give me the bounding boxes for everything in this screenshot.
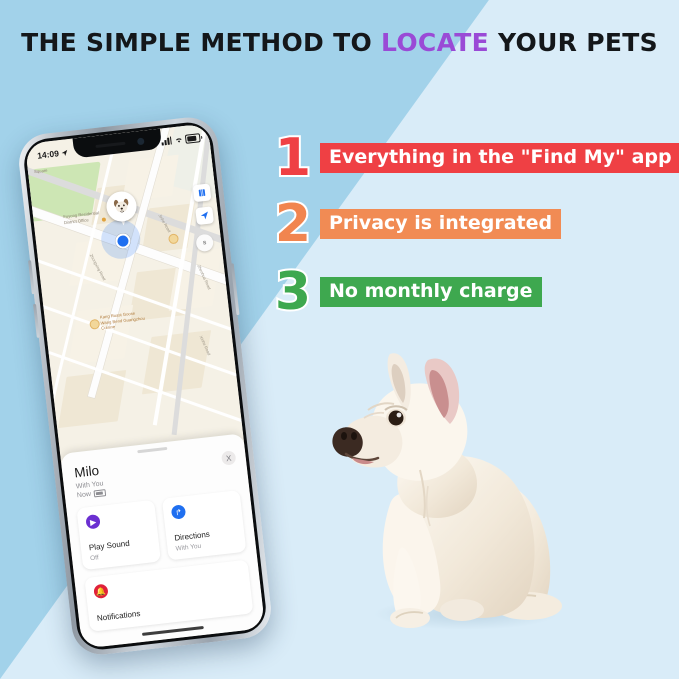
play-sound-tile[interactable]: ▶ Play Sound Off (76, 500, 161, 570)
front-camera-icon (137, 138, 145, 146)
book-icon (197, 188, 207, 198)
item-timestamp-row: Now (77, 489, 107, 499)
close-icon[interactable]: X (221, 450, 236, 465)
battery-icon (185, 133, 201, 144)
french-bulldog-photo (316, 336, 592, 632)
sheet-header: Milo With You Now (74, 462, 107, 499)
feature-number-3: 3 (266, 266, 320, 318)
compass-letter: S (203, 240, 207, 246)
home-indicator[interactable] (142, 626, 204, 636)
play-circle-icon: ▶ (85, 514, 100, 529)
play-sound-status: Off (90, 554, 99, 562)
cellular-bars-icon (161, 136, 172, 145)
feature-badge-2: Privacy is integrated (320, 209, 561, 239)
restaurant-label: Kang Roast Goose Wang Bend Guangzhou Cui… (100, 309, 148, 331)
directions-tile[interactable]: ↱ Directions With You (162, 490, 247, 560)
map-locate-button[interactable] (195, 206, 214, 225)
page-title-before: THE SIMPLE METHOD TO (21, 28, 381, 57)
item-name: Milo (74, 462, 105, 481)
feature-number-1: 1 (266, 132, 320, 184)
wifi-icon (173, 135, 183, 144)
item-detail-sheet: Milo With You Now X ▶ Play Sound Off (60, 433, 265, 649)
directions-label: Directions (174, 530, 210, 543)
item-battery-icon (94, 489, 107, 497)
feature-number-2: 2 (266, 198, 320, 250)
sheet-grabber[interactable] (137, 447, 167, 453)
dog-avatar-pin[interactable] (105, 190, 139, 231)
dog-illustration (316, 336, 592, 632)
feature-item-1: 1 Everything in the "Find My" app (266, 132, 679, 184)
page-title: THE SIMPLE METHOD TO LOCATE YOUR PETS (0, 28, 679, 57)
map-view[interactable]: Square Fuyong Residential District Offic… (25, 123, 244, 462)
page-title-highlight: LOCATE (381, 28, 489, 57)
navigation-arrow-icon (200, 211, 210, 221)
directions-status: With You (175, 543, 201, 553)
status-bar-time: 14:09 (37, 148, 60, 160)
status-bar-right (161, 133, 201, 146)
item-timestamp: Now (77, 491, 92, 500)
notifications-label: Notifications (96, 609, 140, 623)
feature-item-3: 3 No monthly charge (266, 266, 542, 318)
feature-badge-1: Everything in the "Find My" app (320, 143, 679, 173)
earpiece-speaker (95, 142, 125, 148)
location-arrow-icon (60, 149, 68, 157)
feature-badge-3: No monthly charge (320, 277, 542, 307)
bell-icon: 🔔 (93, 584, 108, 599)
notifications-tile[interactable]: 🔔 Notifications (84, 560, 253, 632)
dog-face-icon (112, 197, 132, 217)
play-sound-label: Play Sound (88, 539, 130, 553)
directions-arrow-icon: ↱ (171, 504, 186, 519)
poster-canvas: THE SIMPLE METHOD TO LOCATE YOUR PETS 1 … (0, 0, 679, 679)
map-layers-button[interactable] (193, 183, 212, 202)
feature-item-2: 2 Privacy is integrated (266, 198, 561, 250)
page-title-after: YOUR PETS (489, 28, 658, 57)
action-tiles: ▶ Play Sound Off ↱ Directions With You (76, 490, 246, 570)
status-bar-left: 14:09 (37, 147, 69, 160)
